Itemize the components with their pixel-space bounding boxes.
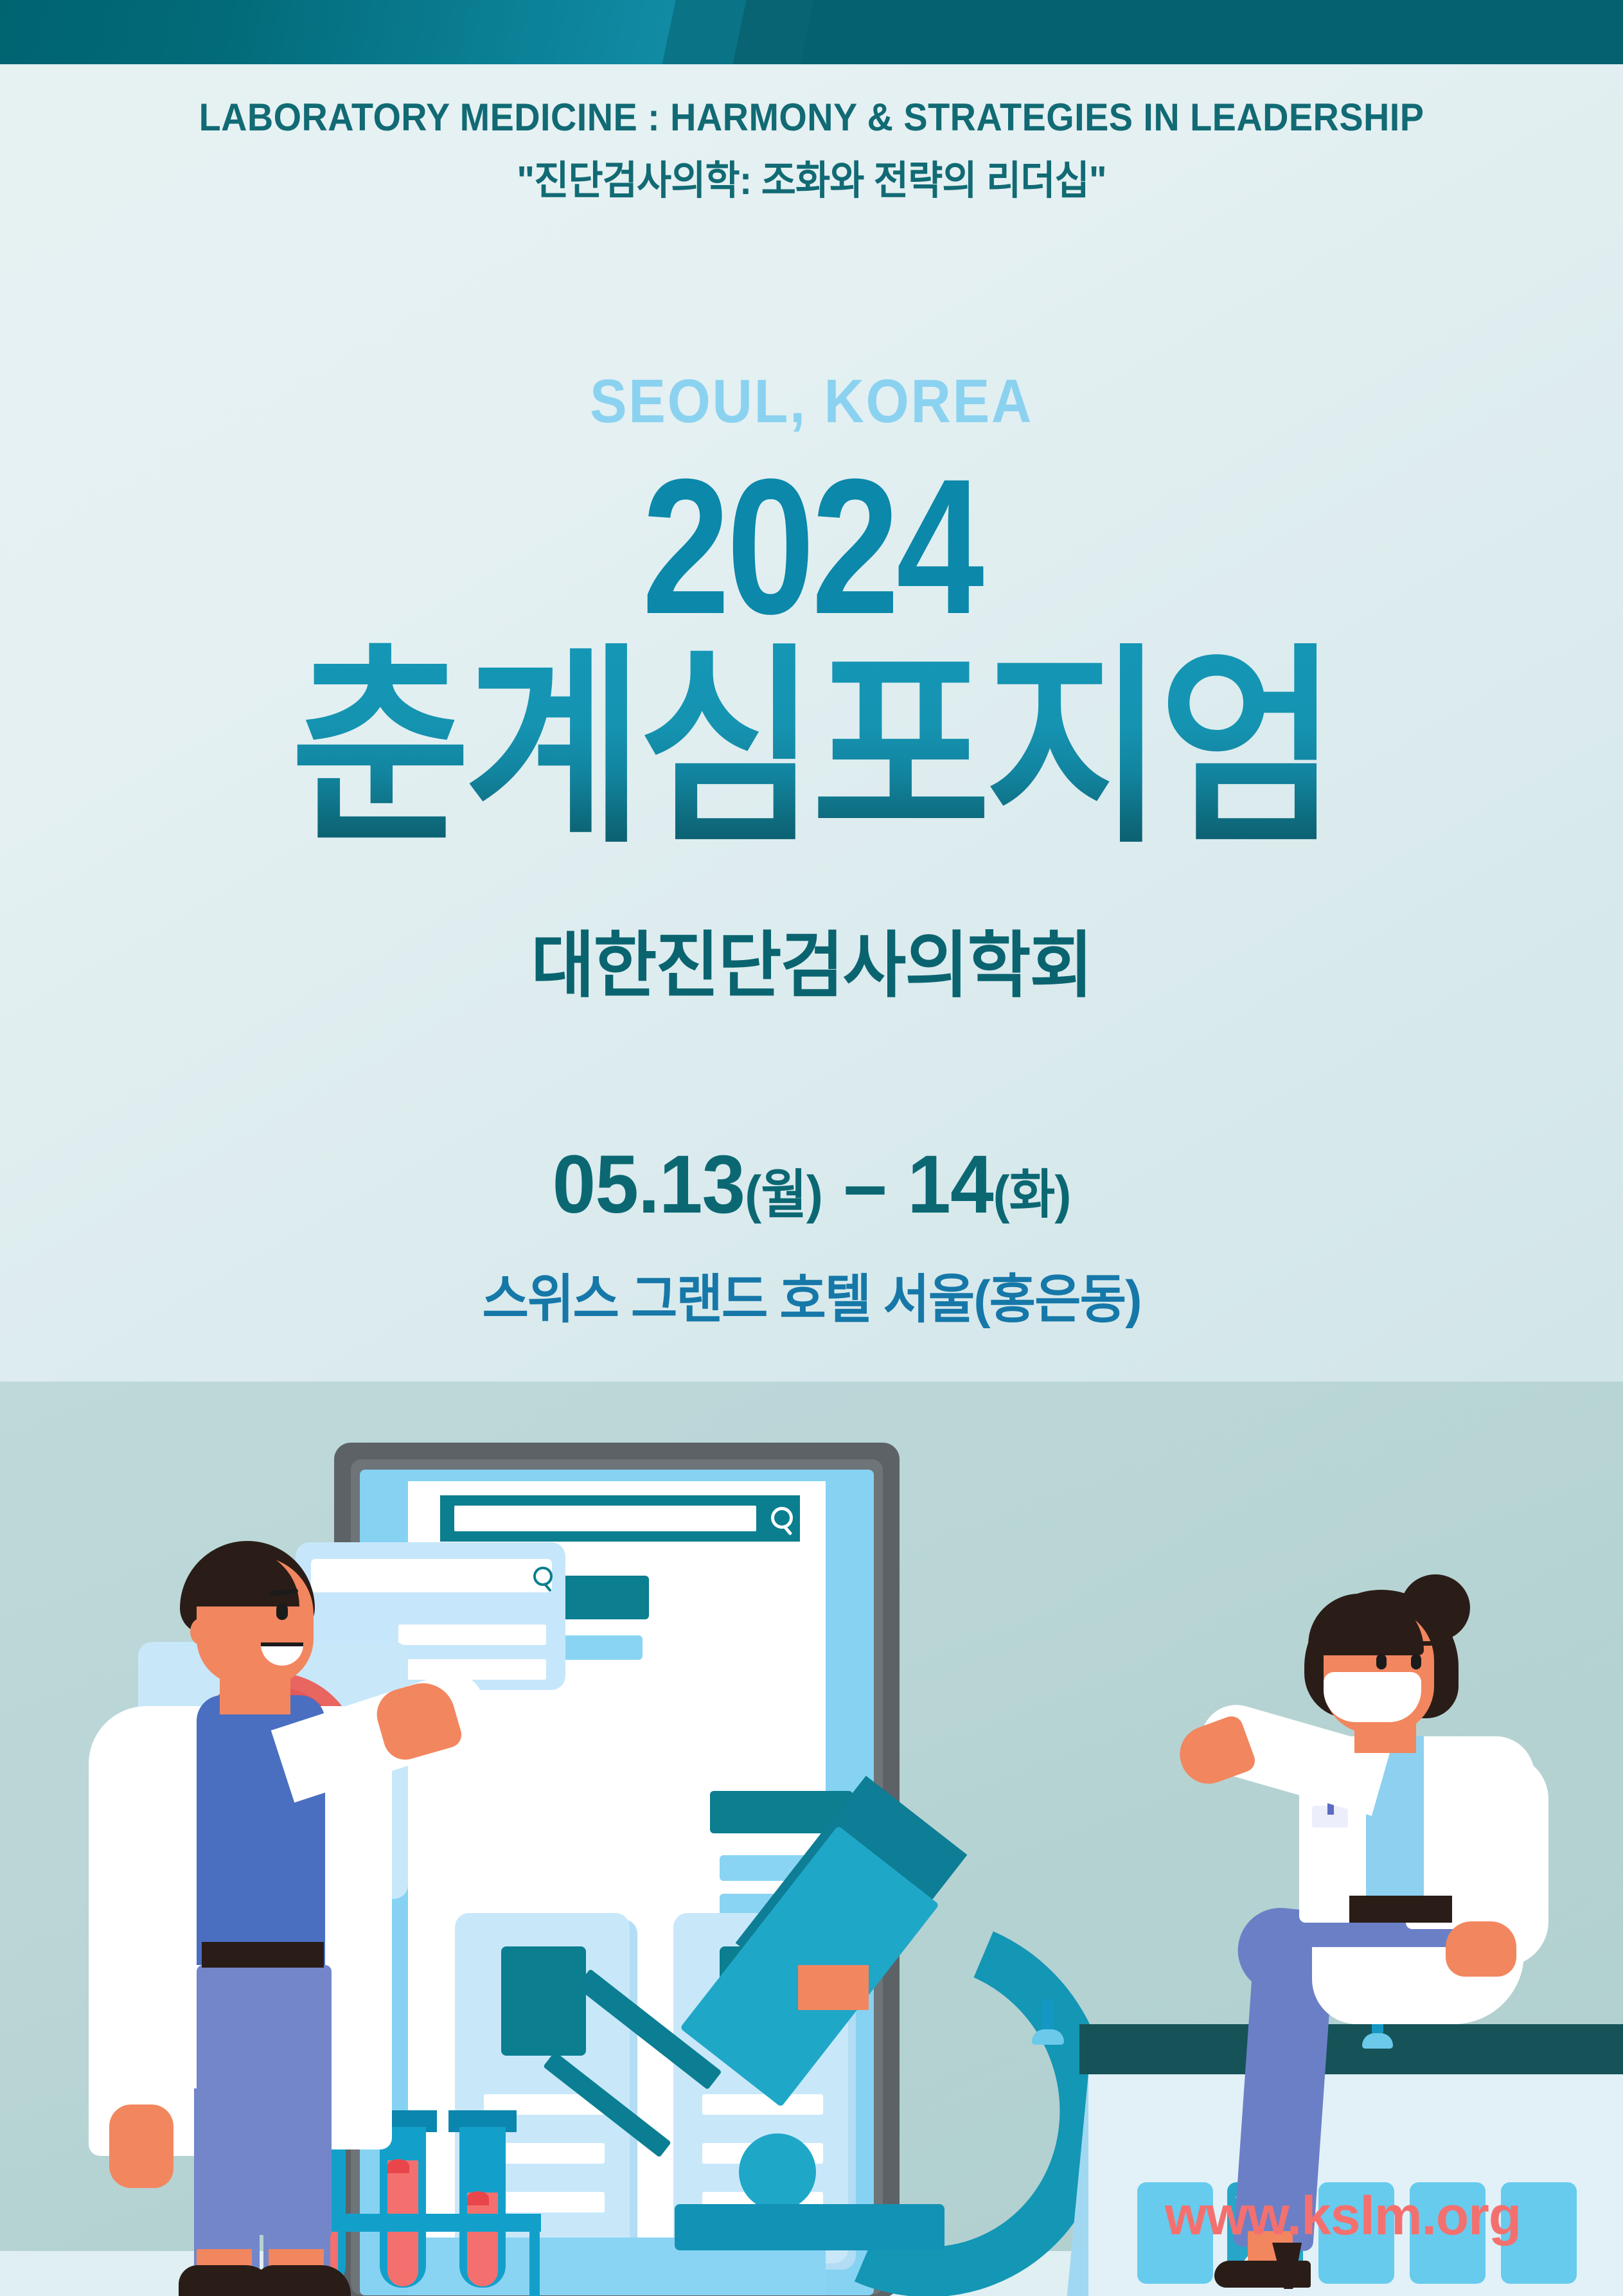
tagline-english: LABORATORY MEDICINE : HARMONY & STRATEGI… [57, 95, 1566, 139]
male-belt [202, 1942, 324, 1968]
website-url[interactable]: www.kslm.org [1118, 2185, 1568, 2247]
cabinet-side-edge [1067, 2074, 1088, 2296]
male-doctor [71, 1523, 430, 2296]
female-eyebrow-left [1370, 1641, 1396, 1646]
faucet-base-2 [1032, 2029, 1064, 2045]
female-hand-right [1446, 1921, 1516, 1977]
female-doctor [1189, 1574, 1623, 2281]
rack-leg-right [529, 2214, 540, 2296]
tube-blood-dark-3 [467, 2191, 489, 2205]
event-title: 춘계심포지엄 [65, 643, 1558, 855]
tagline-korean: "진단검사의학: 조화와 전략의 리더십" [40, 148, 1583, 206]
male-hand-left [109, 2105, 173, 2188]
card1-image-block [501, 1946, 586, 2056]
female-id-badge [1312, 1806, 1348, 1828]
female-shoe [1214, 2261, 1311, 2288]
female-belt [1349, 1896, 1452, 1923]
event-date: 05.13(월) – 14(화) [40, 1137, 1583, 1232]
illustration-scene [0, 1382, 1623, 2296]
male-pants [197, 1965, 332, 2235]
female-eye-left [1376, 1654, 1387, 1669]
microscope-focus-knob [739, 2133, 816, 2211]
female-face-mask [1324, 1672, 1421, 1722]
microscope [649, 1819, 1047, 2294]
screen-search-input [454, 1506, 756, 1531]
male-ear [190, 1618, 212, 1645]
date-start-day: (월) [745, 1166, 822, 1224]
male-shoe-right [254, 2265, 351, 2296]
search-icon [533, 1567, 553, 1586]
female-eyebrow-right [1407, 1641, 1433, 1646]
test-tube-3 [459, 2127, 506, 2288]
screen-search-bar [440, 1495, 800, 1542]
event-year: 2024 [146, 450, 1477, 643]
date-dash: – [844, 1139, 887, 1231]
event-location: SEOUL, KOREA [81, 366, 1541, 437]
microscope-neck [798, 1965, 869, 2010]
banner-diagonal-1 [0, 0, 756, 64]
tube-blood-3 [467, 2193, 498, 2286]
top-banner [0, 0, 1623, 64]
banner-diagonal-4 [796, 0, 1623, 64]
date-end-number: 14 [907, 1139, 993, 1231]
poster-root: LABORATORY MEDICINE : HARMONY & STRATEGI… [0, 0, 1623, 2296]
female-eye-right [1411, 1654, 1421, 1669]
male-eye [276, 1603, 288, 1620]
date-start-number: 05.13 [553, 1139, 745, 1231]
date-end-day: (화) [993, 1166, 1071, 1224]
organizer-name: 대한진단검사의학회 [33, 907, 1591, 1011]
microscope-base [675, 2204, 945, 2250]
search-icon [771, 1507, 793, 1529]
event-venue: 스위스 그랜드 호텔 서울(홍은동) [33, 1256, 1591, 1333]
